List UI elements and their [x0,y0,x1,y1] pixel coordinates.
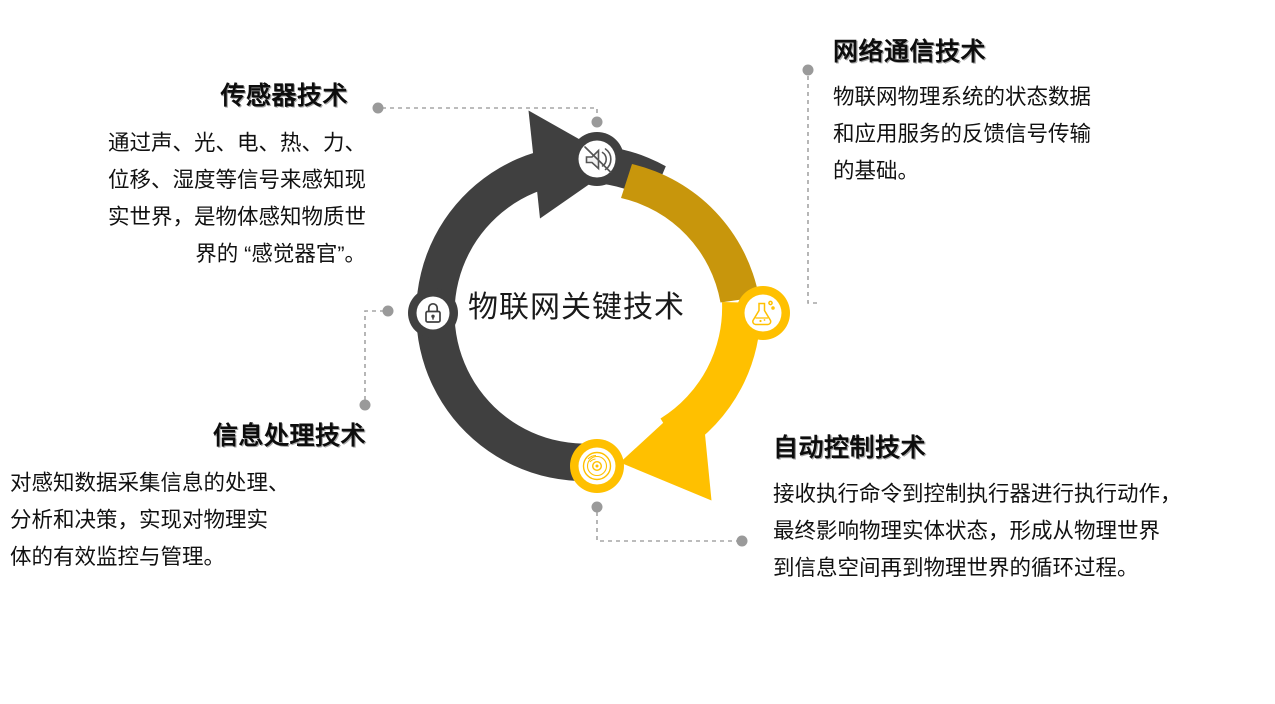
body-line: 到信息空间再到物理世界的循环过程。 [773,550,1263,587]
connector-dot-network-text [803,65,814,76]
disc-icon [584,453,611,480]
node-badge-sensor[interactable] [570,132,624,186]
arrow-lower-right-yellow [620,302,761,501]
body-line: 物联网物理系统的状态数据 [833,79,1233,116]
body-line: 和应用服务的反馈信号传输 [833,116,1233,153]
node-body-control: 接收执行命令到控制执行器进行执行动作， 最终影响物理实体状态，形成从物理世界 到… [773,476,1263,587]
sensor-badge-inner [579,141,616,178]
body-line: 体的有效监控与管理。 [10,539,366,576]
center-lock-badge[interactable] [408,288,458,338]
connector-dot-info-node [383,306,394,317]
speaker-signal-icon [585,147,611,172]
connector-dot-info-text [360,400,371,411]
connector-network [803,65,821,304]
node-block-info: 信息处理技术 对感知数据采集信息的处理、 分析和决策，实现对物理实 体的有效监控… [10,422,366,576]
node-title-info: 信息处理技术 [10,422,366,451]
connector-info [360,306,394,411]
connector-sensor [373,103,603,128]
connector-dot-sensor-node [592,117,603,128]
body-line: 实世界，是物体感知物质世 [18,199,366,236]
center-badge-circle [408,288,458,338]
infographic-slide: 物联网关键技术 传感器技术 通过声、光、电、热、力、 位移、湿度等信号来感知现 … [0,0,1275,704]
flask-icon [753,301,774,324]
node-body-network: 物联网物理系统的状态数据 和应用服务的反馈信号传输 的基础。 [833,79,1233,190]
connector-dot-sensor-text [373,103,384,114]
sensor-badge-circle [570,132,624,186]
node-block-network: 网络通信技术 物联网物理系统的状态数据 和应用服务的反馈信号传输 的基础。 [833,38,1233,190]
network-badge-inner [745,295,782,332]
node-body-sensor: 通过声、光、电、热、力、 位移、湿度等信号来感知现 实世界，是物体感知物质世 界… [18,125,366,273]
connector-dot-control-node [592,502,603,513]
node-badge-network[interactable] [736,286,790,340]
node-body-info: 对感知数据采集信息的处理、 分析和决策，实现对物理实 体的有效监控与管理。 [10,465,366,576]
node-title-sensor: 传感器技术 [18,82,366,111]
node-block-sensor: 传感器技术 通过声、光、电、热、力、 位移、湿度等信号来感知现 实世界，是物体感… [18,82,366,273]
body-line: 对感知数据采集信息的处理、 [10,465,366,502]
center-badge-inner [417,297,450,330]
connector-control [592,502,748,547]
lock-icon [426,304,440,322]
node-badge-control[interactable] [570,439,624,493]
network-badge-circle [736,286,790,340]
body-line: 最终影响物理实体状态，形成从物理世界 [773,513,1263,550]
arc-upper-right-gold [621,164,759,303]
body-line: 位移、湿度等信号来感知现 [18,162,366,199]
node-title-network: 网络通信技术 [833,38,1233,67]
center-hub-label: 物联网关键技术 [468,293,685,323]
body-line: 分析和决策，实现对物理实 [10,502,366,539]
node-block-control: 自动控制技术 接收执行命令到控制执行器进行执行动作， 最终影响物理实体状态，形成… [773,434,1263,587]
body-line: 通过声、光、电、热、力、 [18,125,366,162]
body-line: 的基础。 [833,153,1233,190]
control-badge-circle [570,439,624,493]
control-badge-inner [579,448,616,485]
node-title-control: 自动控制技术 [773,434,1263,463]
body-line: 界的 “感觉器官”。 [18,236,366,273]
body-line: 接收执行命令到控制执行器进行执行动作， [773,476,1263,513]
connector-dot-control-text [737,536,748,547]
